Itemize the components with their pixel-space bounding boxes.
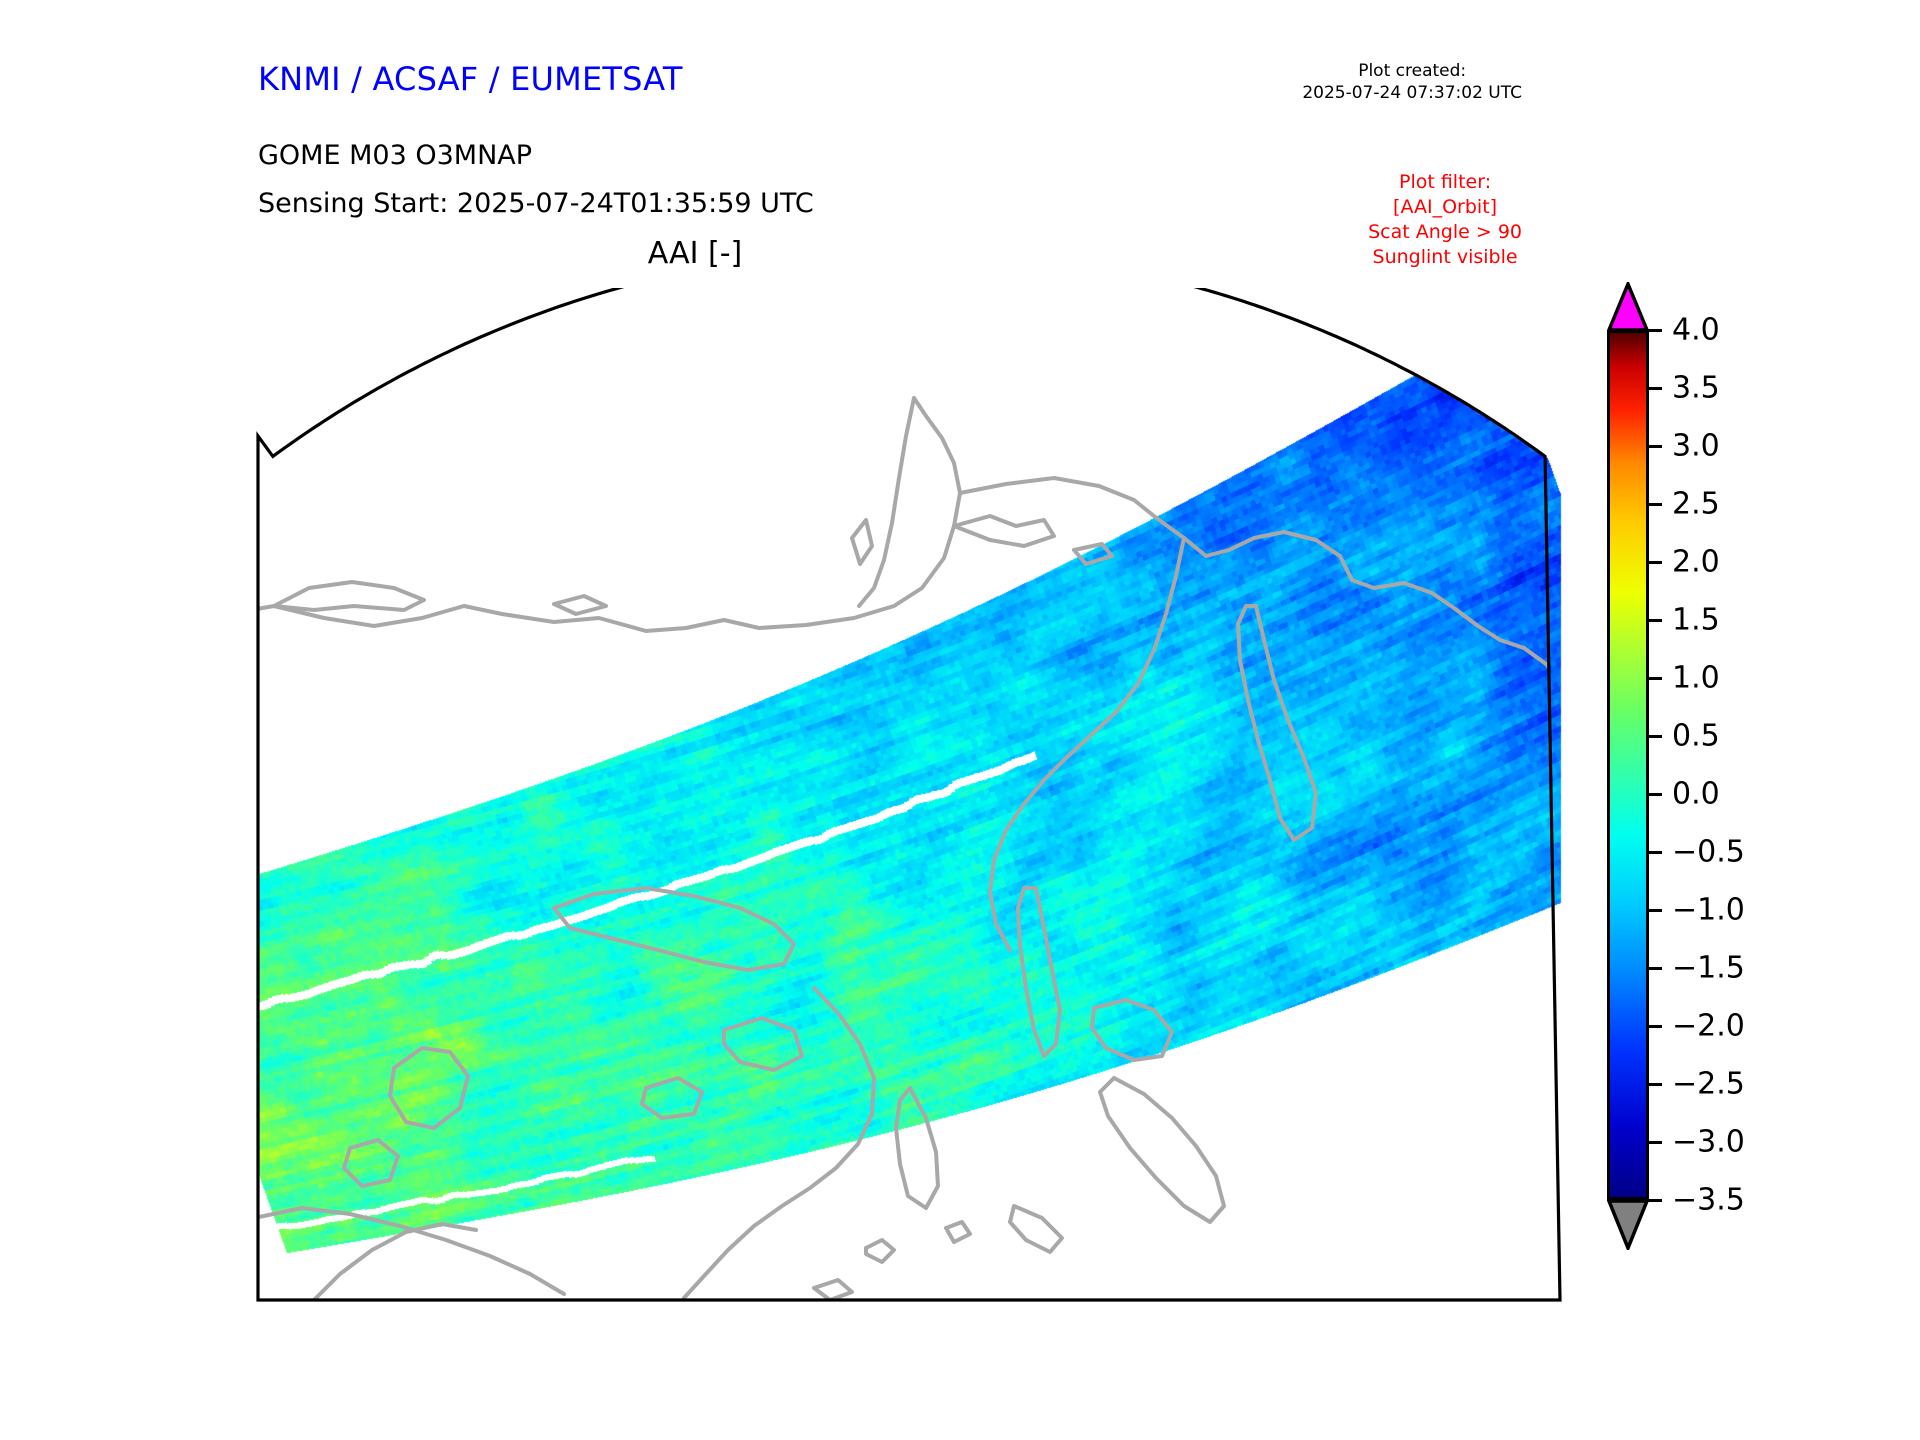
colorbar-tick-label: −2.5: [1672, 1067, 1745, 1102]
coastline-path: [254, 398, 960, 631]
colorbar-tick: [1646, 851, 1662, 854]
coastline-path: [344, 1140, 398, 1186]
coastline-path: [990, 538, 1184, 950]
colorbar-tick-label: 1.5: [1672, 603, 1720, 638]
coastline-path: [684, 988, 874, 1298]
coastline-path: [1100, 1078, 1224, 1222]
plot-filter-scat-angle: Scat Angle > 90: [1368, 220, 1522, 245]
colorbar-tick-label: −1.0: [1672, 893, 1745, 928]
colorbar-tick: [1646, 329, 1662, 332]
colorbar: 4.03.53.02.52.01.51.00.50.0−0.5−1.0−1.5−…: [1600, 282, 1900, 1312]
coastline-path: [274, 582, 424, 610]
plot-filter-sunglint: Sunglint visible: [1368, 245, 1522, 270]
colorbar-over-arrow: [1607, 282, 1649, 332]
colorbar-tick-label: −2.0: [1672, 1009, 1745, 1044]
organisation-title: KNMI / ACSAF / EUMETSAT: [258, 60, 683, 98]
colorbar-tick-label: 3.0: [1672, 429, 1720, 464]
coastline-path: [554, 596, 606, 614]
coastline-path: [1524, 648, 1560, 680]
colorbar-tick: [1646, 909, 1662, 912]
plot-filter-name: [AAI_Orbit]: [1368, 195, 1522, 220]
map-overlay: [254, 288, 1564, 1303]
colorbar-under-arrow: [1607, 1198, 1649, 1250]
colorbar-gradient: [1607, 330, 1649, 1200]
map-plot-area: [254, 288, 1564, 1303]
axes-title: AAI [-]: [0, 236, 1390, 271]
colorbar-tick: [1646, 445, 1662, 448]
colorbar-tick-label: 2.0: [1672, 545, 1720, 580]
colorbar-tick: [1646, 619, 1662, 622]
coastline-path: [866, 1240, 894, 1262]
colorbar-tick: [1646, 677, 1662, 680]
colorbar-tick: [1646, 387, 1662, 390]
colorbar-tick-label: 1.0: [1672, 661, 1720, 696]
coastline-path: [954, 516, 1054, 546]
colorbar-tick: [1646, 503, 1662, 506]
colorbar-tick: [1646, 735, 1662, 738]
colorbar-tick: [1646, 1199, 1662, 1202]
coastline-path: [1010, 1206, 1062, 1252]
colorbar-tick-label: 0.0: [1672, 777, 1720, 812]
coastline-path: [1238, 606, 1316, 840]
coastline-path: [554, 888, 794, 970]
colorbar-tick-label: −3.5: [1672, 1183, 1745, 1218]
colorbar-tick-label: 2.5: [1672, 487, 1720, 522]
colorbar-tick-label: −3.0: [1672, 1125, 1745, 1160]
colorbar-tick-label: −1.5: [1672, 951, 1745, 986]
coastline-path: [896, 1088, 938, 1208]
colorbar-tick: [1646, 967, 1662, 970]
plot-created-label: Plot created:: [1302, 60, 1522, 82]
colorbar-tick-label: 3.5: [1672, 371, 1720, 406]
plot-filter-title: Plot filter:: [1368, 170, 1522, 195]
coastline-path: [1074, 544, 1112, 564]
coastline-path: [814, 1280, 852, 1300]
sensing-start: Sensing Start: 2025-07-24T01:35:59 UTC: [258, 188, 814, 219]
colorbar-tick-label: −0.5: [1672, 835, 1745, 870]
colorbar-tick-label: 4.0: [1672, 313, 1720, 348]
coastline-path: [642, 1078, 702, 1118]
plot-filter-block: Plot filter: [AAI_Orbit] Scat Angle > 90…: [1368, 170, 1522, 270]
colorbar-tick: [1646, 1083, 1662, 1086]
colorbar-tick: [1646, 1141, 1662, 1144]
coastline-path: [254, 1208, 564, 1294]
coastline-path: [859, 398, 914, 606]
coastline-path: [946, 1222, 970, 1242]
coastline-path: [1092, 1000, 1172, 1060]
colorbar-tick: [1646, 793, 1662, 796]
plot-created-block: Plot created: 2025-07-24 07:37:02 UTC: [1302, 60, 1522, 104]
coastline-path: [852, 520, 872, 564]
coastline-path: [390, 1048, 468, 1128]
map-frame: [258, 288, 1560, 1300]
coastline-path: [960, 478, 1352, 580]
coastline-path: [724, 1018, 802, 1070]
coastlines-layer: [254, 398, 1560, 1300]
coastline-path: [1018, 888, 1060, 1056]
product-name: GOME M03 O3MNAP: [258, 140, 532, 171]
colorbar-tick: [1646, 561, 1662, 564]
coastline-path: [314, 1224, 476, 1300]
colorbar-tick-label: 0.5: [1672, 719, 1720, 754]
coastline-path: [1352, 580, 1524, 648]
plot-created-timestamp: 2025-07-24 07:37:02 UTC: [1302, 82, 1522, 104]
map-boundary: [258, 288, 1560, 1300]
colorbar-tick: [1646, 1025, 1662, 1028]
